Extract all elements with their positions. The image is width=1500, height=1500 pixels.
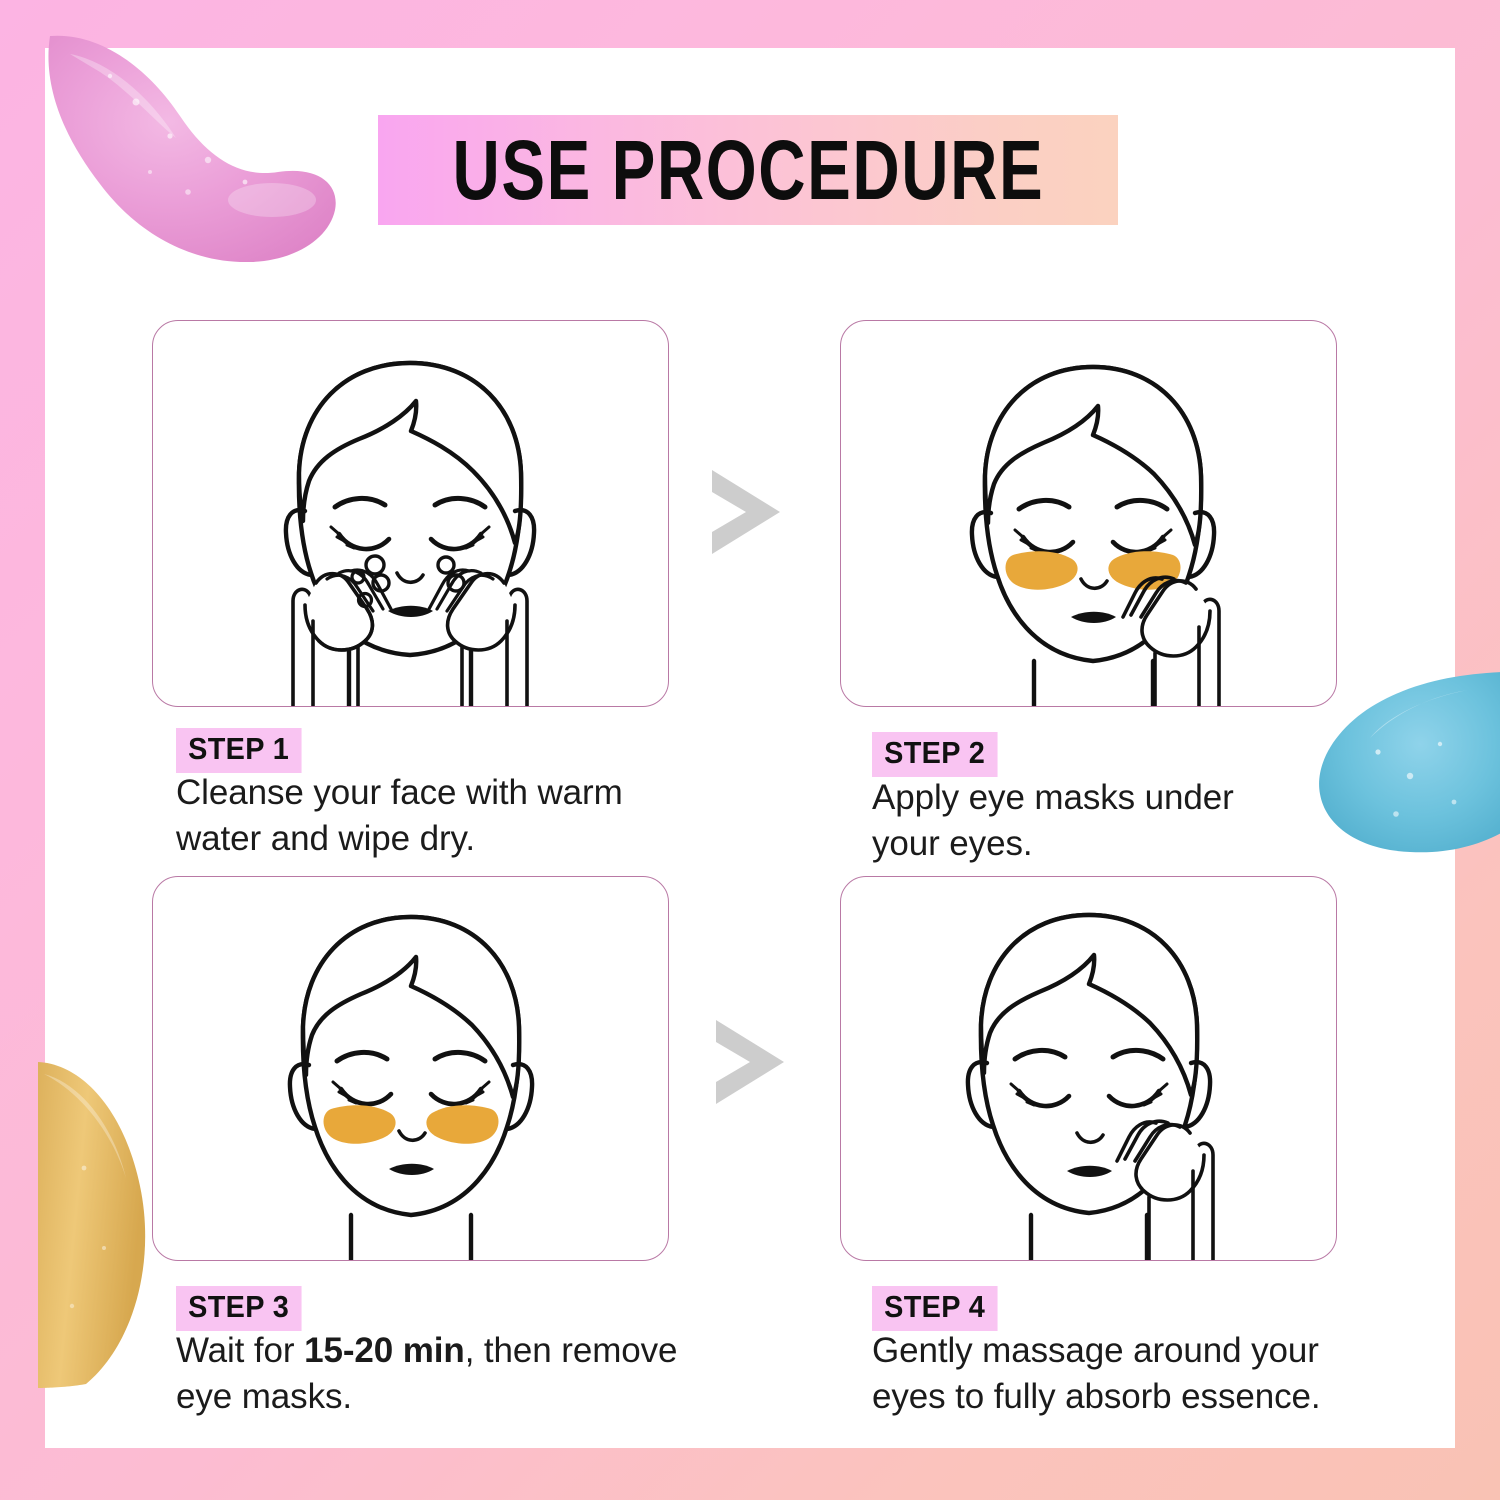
face-applying-eye-mask-icon xyxy=(841,321,1336,706)
face-massage-icon xyxy=(841,877,1336,1260)
step-3-badge: STEP 3 xyxy=(176,1286,301,1331)
step-3-text-before: Wait for xyxy=(176,1331,304,1370)
page-title: USE PROCEDURE xyxy=(452,128,1044,212)
step-4-illustration-panel xyxy=(840,876,1337,1261)
chevron-right-icon-top xyxy=(700,462,792,562)
pink-gel-eye-patch-icon xyxy=(40,32,350,262)
step-3-description: Wait for 15-20 min, then remove eye mask… xyxy=(176,1328,736,1419)
gold-gel-eye-patch-icon xyxy=(38,1058,158,1388)
chevron-right-icon-bottom xyxy=(704,1012,796,1112)
use-procedure-poster: USE PROCEDURE xyxy=(0,0,1500,1500)
step-3-text-bold: 15-20 min xyxy=(304,1331,465,1370)
step-3-illustration-panel xyxy=(152,876,669,1261)
step-2-text-before: Apply eye masks under your eyes. xyxy=(872,778,1234,863)
step-4-text-before: Gently massage around your eyes to fully… xyxy=(872,1331,1320,1416)
step-1-text-before: Cleanse your face with warm water and wi… xyxy=(176,773,623,858)
face-washing-icon xyxy=(153,321,668,706)
step-1-illustration-panel xyxy=(152,320,669,707)
step-4-badge: STEP 4 xyxy=(872,1286,997,1331)
step-2-badge: STEP 2 xyxy=(872,732,997,777)
step-2-description: Apply eye masks under your eyes. xyxy=(872,775,1292,866)
face-resting-with-eye-masks-icon xyxy=(153,877,668,1260)
page-title-band: USE PROCEDURE xyxy=(378,115,1118,225)
step-1-description: Cleanse your face with warm water and wi… xyxy=(176,770,696,861)
blue-gel-eye-patch-icon xyxy=(1318,672,1500,857)
step-2-illustration-panel xyxy=(840,320,1337,707)
step-4-description: Gently massage around your eyes to fully… xyxy=(872,1328,1392,1419)
step-1-badge: STEP 1 xyxy=(176,728,301,773)
